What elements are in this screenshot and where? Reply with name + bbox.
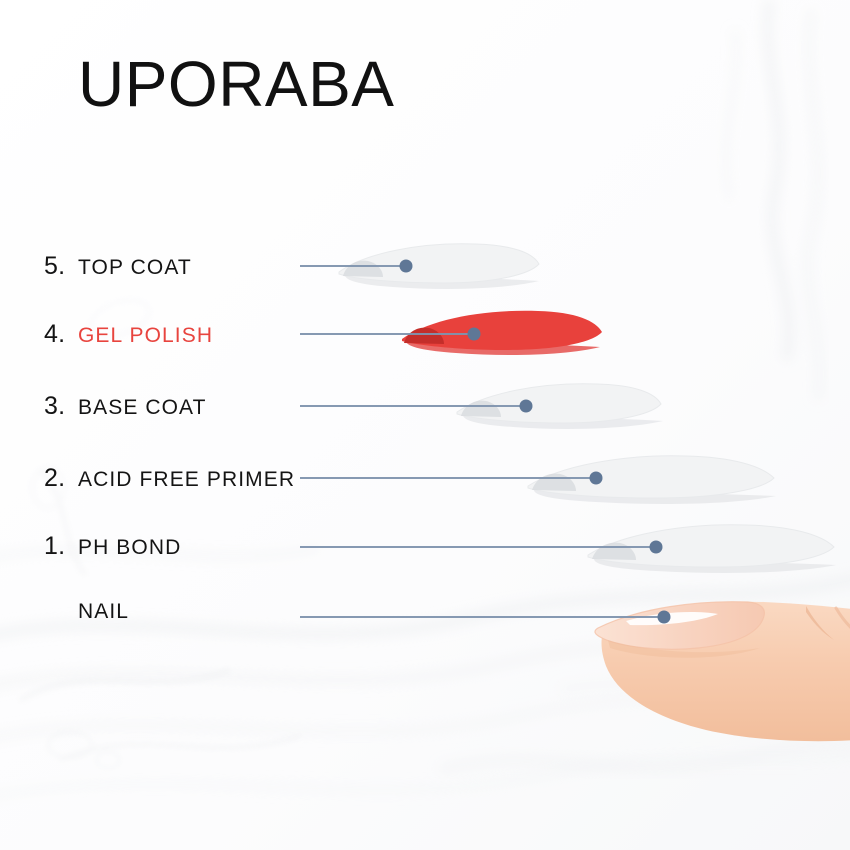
legend-label-gel-polish: GEL POLISH bbox=[78, 324, 213, 348]
leader-line-ph-bond bbox=[300, 546, 656, 548]
leader-line-top-coat bbox=[300, 265, 406, 267]
nail-layer-acid-free-primer bbox=[526, 450, 786, 516]
legend-item-acid-free-primer[interactable]: 2. ACID FREE PRIMER bbox=[44, 464, 295, 493]
legend-item-top-coat[interactable]: 5. TOP COAT bbox=[44, 252, 192, 281]
legend-label-nail: NAIL bbox=[78, 600, 129, 624]
legend-item-gel-polish[interactable]: 4. GEL POLISH bbox=[44, 320, 213, 349]
leader-dot-nail[interactable] bbox=[658, 611, 671, 624]
leader-dot-top-coat[interactable] bbox=[400, 260, 413, 273]
nail-layer-top-coat bbox=[337, 239, 547, 299]
page-title: UPORABA bbox=[78, 52, 394, 116]
legend-label-acid-free-primer: ACID FREE PRIMER bbox=[78, 468, 295, 492]
legend-number-4: 4. bbox=[44, 320, 78, 349]
nail-layer-gel-polish bbox=[400, 307, 610, 365]
legend-number-3: 3. bbox=[44, 392, 78, 421]
legend-label-ph-bond: PH BOND bbox=[78, 536, 181, 560]
legend-label-top-coat: TOP COAT bbox=[78, 256, 192, 280]
infographic-canvas: UPORABA bbox=[0, 0, 850, 850]
leader-line-base-coat bbox=[300, 405, 526, 407]
legend-item-base-coat[interactable]: 3. BASE COAT bbox=[44, 392, 207, 421]
leader-dot-base-coat[interactable] bbox=[520, 400, 533, 413]
legend-number-1: 1. bbox=[44, 532, 78, 561]
leader-dot-acid-free-primer[interactable] bbox=[590, 472, 603, 485]
nail-layer-ph-bond bbox=[586, 519, 846, 585]
legend-item-ph-bond[interactable]: 1. PH BOND bbox=[44, 532, 181, 561]
leader-line-nail bbox=[300, 616, 664, 618]
leader-line-acid-free-primer bbox=[300, 477, 596, 479]
leader-line-gel-polish bbox=[300, 333, 474, 335]
legend-number-5: 5. bbox=[44, 252, 78, 281]
fingertip-illustration bbox=[578, 588, 850, 748]
leader-dot-gel-polish[interactable] bbox=[468, 328, 481, 341]
nail-layer-base-coat bbox=[455, 379, 670, 439]
legend-label-base-coat: BASE COAT bbox=[78, 396, 207, 420]
leader-dot-ph-bond[interactable] bbox=[650, 541, 663, 554]
legend-number-2: 2. bbox=[44, 464, 78, 493]
legend-item-nail[interactable]: NAIL bbox=[44, 600, 129, 624]
